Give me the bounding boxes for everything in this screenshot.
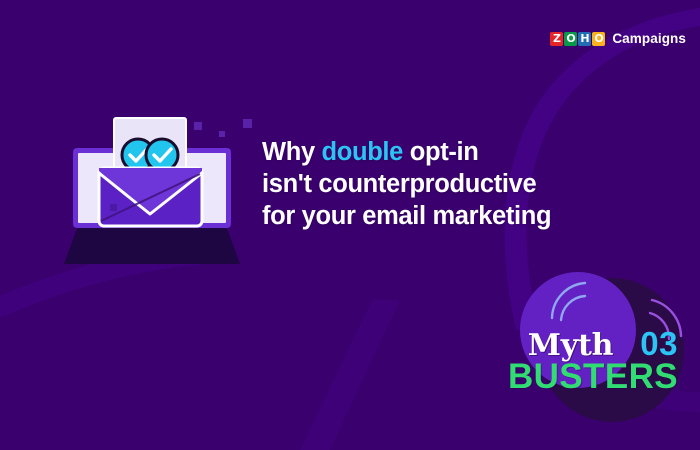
campaign-banner: Z O H O Campaigns [0, 0, 700, 450]
headline-accent-word: double [322, 138, 403, 166]
illustration-svg [42, 108, 262, 293]
headline-line-1: Why double opt-in [262, 136, 551, 168]
check-circle-right [146, 139, 178, 171]
swoosh-bottom-diagonal [300, 300, 400, 450]
zoho-letter-z: Z [550, 32, 563, 46]
decor-square-8 [110, 204, 117, 211]
zoho-letter-o2: O [592, 32, 605, 46]
busters-label: BUSTERS [508, 359, 678, 394]
zoho-logo[interactable]: Z O H O [550, 32, 605, 46]
zoho-letter-o1: O [564, 32, 577, 46]
headline-line-3: for your email marketing [262, 200, 551, 232]
zoho-letter-h: H [578, 32, 591, 46]
laptop-base [64, 226, 240, 264]
page-title: Why double opt-in isn't counterproductiv… [262, 136, 551, 232]
headline-line1-after: opt-in [403, 138, 478, 166]
product-name-label: Campaigns [612, 31, 686, 46]
laptop-email-illustration [42, 108, 262, 293]
headline-line-2: isn't counterproductive [262, 168, 551, 200]
headline-line1-before: Why [262, 138, 322, 166]
brand-lockup[interactable]: Z O H O Campaigns [550, 31, 686, 46]
mythbusters-badge: Myth 03 BUSTERS [508, 325, 678, 394]
double-optin-checks [122, 139, 178, 171]
decor-arcs-left [552, 283, 585, 320]
